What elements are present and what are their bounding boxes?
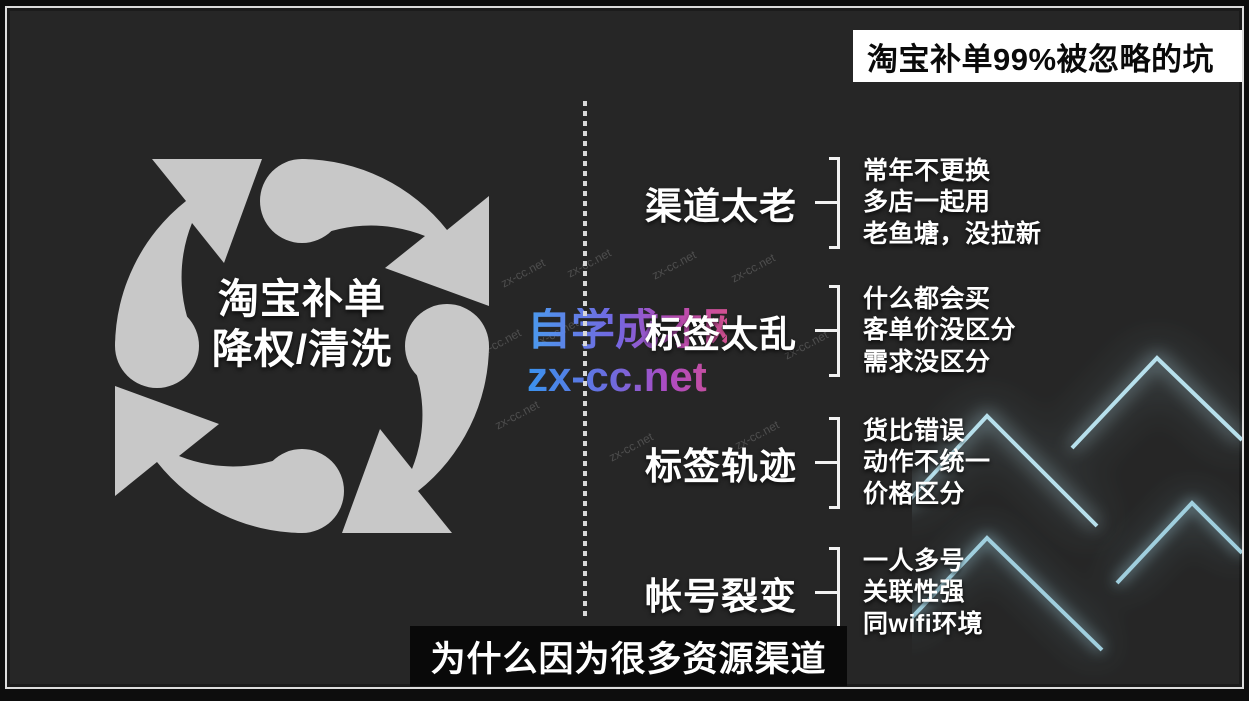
row-category-label: 标签太乱 <box>597 304 815 358</box>
watermark-tile: zx-cc.net <box>532 316 581 351</box>
title-banner: 淘宝补单99%被忽略的坑 <box>853 30 1244 82</box>
watermark-tile: zx-cc.net <box>499 256 548 291</box>
brace-icon <box>815 417 849 509</box>
bullet-item: 关联性强 <box>863 577 983 609</box>
bullet-item: 常年不更换 <box>863 156 1042 188</box>
row-category-label: 标签轨迹 <box>597 436 815 490</box>
bullet-item: 动作不统一 <box>863 447 991 479</box>
content-row: 渠道太老 常年不更换 多店一起用 老鱼塘，没拉新 <box>597 148 1077 258</box>
row-category-label: 渠道太老 <box>597 176 815 230</box>
brace-icon <box>815 285 849 377</box>
bullet-item: 一人多号 <box>863 546 983 578</box>
cycle-label-line-1: 淘宝补单 <box>102 274 502 324</box>
slide-frame: zx-cc.net zx-cc.net zx-cc.net zx-cc.net … <box>5 6 1244 689</box>
cycle-center-label: 淘宝补单 降权/清洗 <box>102 274 502 374</box>
bullet-item: 什么都会买 <box>863 284 1016 316</box>
bullet-item: 货比错误 <box>863 416 991 448</box>
row-bullet-list: 一人多号 关联性强 同wifi环境 <box>849 546 983 641</box>
page-title: 淘宝补单99%被忽略的坑 <box>867 34 1214 79</box>
bullet-item: 价格区分 <box>863 479 991 511</box>
row-bullet-list: 什么都会买 客单价没区分 需求没区分 <box>849 284 1016 379</box>
row-bullet-list: 货比错误 动作不统一 价格区分 <box>849 416 991 511</box>
brace-icon <box>815 157 849 249</box>
row-category-label: 帐号裂变 <box>597 566 815 620</box>
bullet-item: 老鱼塘，没拉新 <box>863 219 1042 251</box>
cycle-diagram: 淘宝补单 降权/清洗 <box>102 146 502 546</box>
row-bullet-list: 常年不更换 多店一起用 老鱼塘，没拉新 <box>849 156 1042 251</box>
slide-canvas: zx-cc.net zx-cc.net zx-cc.net zx-cc.net … <box>0 0 1249 701</box>
bullet-item: 多店一起用 <box>863 187 1042 219</box>
content-row: 标签轨迹 货比错误 动作不统一 价格区分 <box>597 408 1077 518</box>
bullet-item: 客单价没区分 <box>863 315 1016 347</box>
cycle-label-line-2: 降权/清洗 <box>102 324 502 374</box>
subtitle-bar: 为什么因为很多资源渠道 <box>410 626 847 686</box>
vertical-dotted-divider <box>583 101 587 619</box>
bullet-item: 需求没区分 <box>863 347 1016 379</box>
bullet-item: 同wifi环境 <box>863 609 983 641</box>
content-row: 标签太乱 什么都会买 客单价没区分 需求没区分 <box>597 276 1077 386</box>
subtitle-text: 为什么因为很多资源渠道 <box>430 631 826 682</box>
